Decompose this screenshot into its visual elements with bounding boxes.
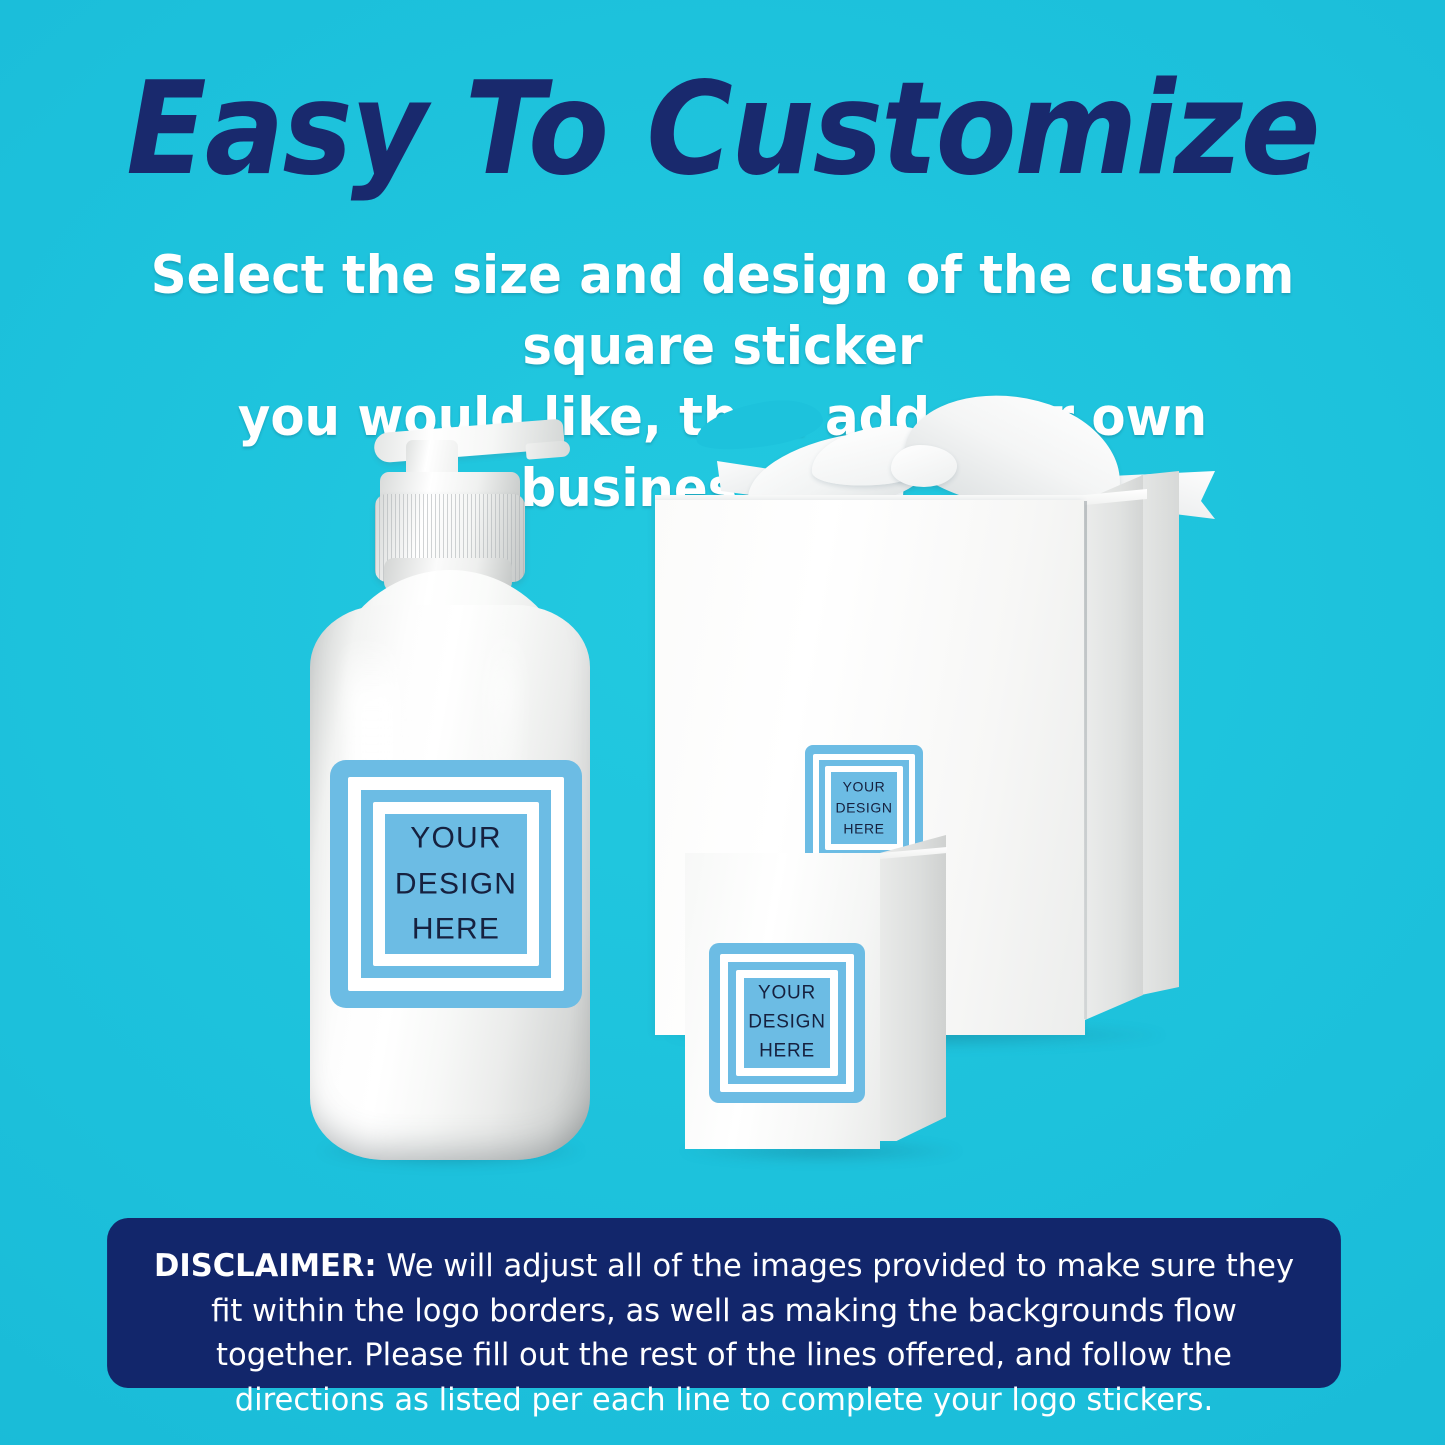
gift-box-side-panel: [1085, 475, 1143, 1020]
disclaimer-label: DISCLAIMER:: [154, 1248, 377, 1284]
pump-bottle-mockup: YOUR DESIGN HERE: [300, 420, 600, 1160]
sticker-line-2: DESIGN: [805, 798, 923, 819]
disclaimer-box: DISCLAIMER: We will adjust all of the im…: [107, 1218, 1341, 1388]
small-box-mockup: YOUR DESIGN HERE: [685, 835, 965, 1155]
subtitle-line-1: Select the size and design of the custom…: [133, 240, 1313, 382]
product-mockup-scene: YOUR DESIGN HERE YOUR DESIGN: [0, 390, 1445, 1190]
sticker-text: YOUR DESIGN HERE: [805, 777, 923, 840]
sticker-text: YOUR DESIGN HERE: [709, 980, 865, 1067]
sticker-on-small-box: YOUR DESIGN HERE: [709, 943, 865, 1103]
sticker-line-1: YOUR: [709, 980, 865, 1009]
pump-nozzle-tip: [525, 440, 570, 459]
promo-graphic: Easy To Customize Select the size and de…: [0, 0, 1445, 1445]
small-box-side-panel: [880, 835, 946, 1141]
ribbon-knot: [891, 445, 957, 487]
gift-box-back-panel: [1141, 471, 1179, 1019]
sticker-on-bottle: YOUR DESIGN HERE: [330, 760, 582, 1008]
sticker-text: YOUR DESIGN HERE: [330, 816, 582, 953]
gift-box-seam: [1084, 501, 1087, 1019]
sticker-line-1: YOUR: [330, 816, 582, 862]
sticker-line-1: YOUR: [805, 777, 923, 798]
page-title: Easy To Customize: [58, 66, 1387, 194]
sticker-line-2: DESIGN: [709, 1009, 865, 1038]
sticker-line-2: DESIGN: [330, 861, 582, 907]
sticker-line-3: HERE: [709, 1037, 865, 1066]
small-box-front-panel: YOUR DESIGN HERE: [685, 853, 880, 1149]
sticker-line-3: HERE: [330, 907, 582, 953]
